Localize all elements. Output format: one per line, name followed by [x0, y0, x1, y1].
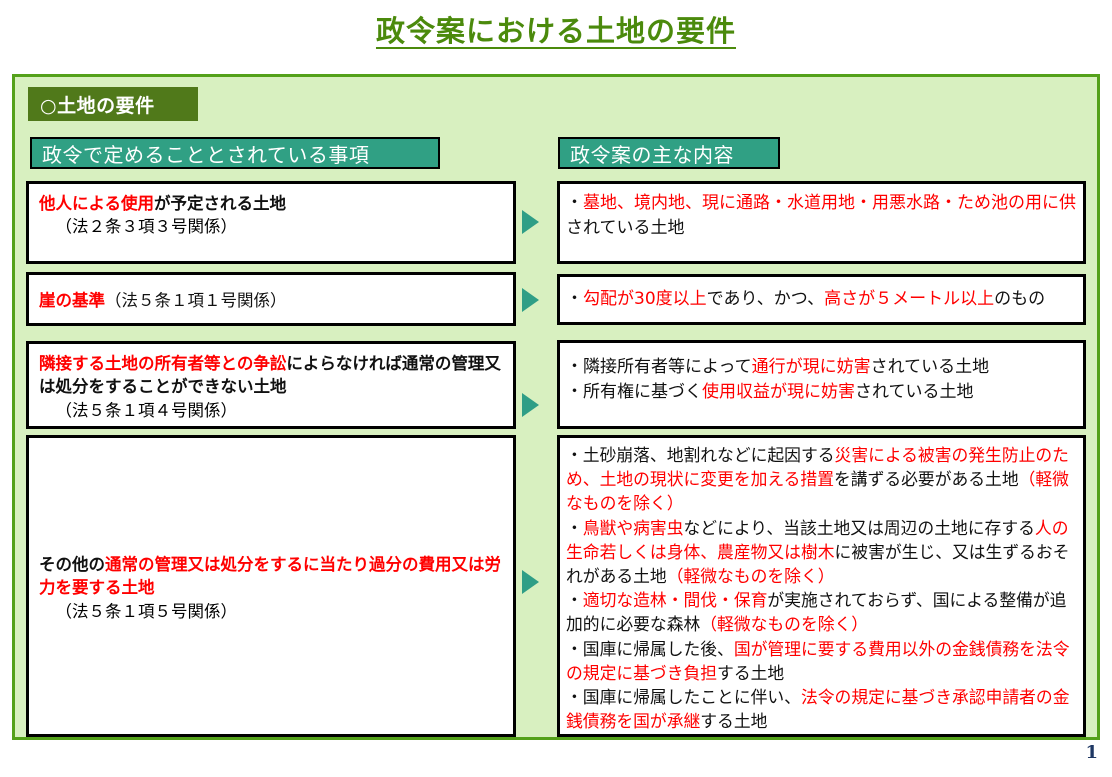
content-3a-black-a: 隣接所有者等によって — [583, 357, 752, 377]
content-box-1: ・墓地、境内地、現に通路・水道用地・用悪水路・ため池の用に供されている土地 — [557, 181, 1086, 264]
requirement-text-1: 他人による使用が予定される土地 （法２条３項３号関係） — [29, 184, 513, 243]
content-text-4: ・土砂崩落、地割れなどに起因する災害による被害の発生防止のため、土地の現状に変更… — [560, 438, 1083, 737]
content-4-segment-3-3: （軽微なものを除く） — [700, 614, 868, 634]
bullet-marker: ・ — [566, 382, 583, 402]
content-2-black-a: であり、かつ、 — [707, 289, 824, 309]
bullet-marker: ・ — [566, 193, 583, 213]
page-title: 政令案における土地の要件 — [0, 8, 1112, 50]
requirement-4-red: 通常の管理又は処分をするに当たり過分の費用又は労力を要する土地 — [39, 555, 501, 597]
content-3b-black-b: されている土地 — [855, 382, 974, 402]
requirement-1-red: 他人による使用 — [39, 194, 154, 213]
requirement-2-red: 崖の基準 — [39, 291, 105, 310]
requirement-text-4: その他の通常の管理又は処分をするに当たり過分の費用又は労力を要する土地 （法５条… — [29, 545, 513, 627]
content-box-2: ・勾配が30度以上であり、かつ、高さが５メートル以上のもの — [557, 274, 1086, 325]
content-3b-black-a: 所有権に基づく — [583, 382, 702, 402]
requirement-1-reference: （法２条３項３号関係） — [39, 215, 503, 238]
content-4-segment-1-3: を講ずる必要がある土地 — [834, 469, 1019, 489]
content-box-4: ・土砂崩落、地割れなどに起因する災害による被害の発生防止のため、土地の現状に変更… — [557, 435, 1086, 737]
content-4-segment-2-5: （軽微なものを除く） — [667, 566, 835, 586]
bullet-marker: ・ — [566, 445, 583, 465]
content-4-segment-4-3: する土地 — [717, 663, 784, 683]
requirement-3-reference: （法５条１項４号関係） — [39, 399, 503, 422]
arrow-right-icon-4 — [522, 570, 539, 594]
bullet-marker: ・ — [566, 518, 583, 538]
content-3b-red: 使用収益が現に妨害 — [702, 382, 855, 402]
list-item: ・国庫に帰属したことに伴い、法令の規定に基づき承認申請者の金銭債務を国が承継する… — [566, 685, 1077, 733]
requirement-3-red: 隣接する土地の所有者等との争訟 — [39, 354, 286, 373]
section-badge: ○土地の要件 — [28, 87, 198, 121]
requirement-box-1: 他人による使用が予定される土地 （法２条３項３号関係） — [26, 181, 516, 264]
content-4-segment-1-1: 土砂崩落、地割れなどに起因する — [583, 445, 835, 465]
content-4-segment-2-2: などにより、当該土地又は周辺の土地に存する — [684, 518, 1035, 538]
content-text-3: ・隣接所有者等によって通行が現に妨害されている土地 ・所有権に基づく使用収益が現… — [560, 343, 1083, 408]
list-item: ・鳥獣や病害虫などにより、当該土地又は周辺の土地に存する人の生命若しくは身体、農… — [566, 516, 1077, 589]
list-item: ・隣接所有者等によって通行が現に妨害されている土地 — [566, 355, 1077, 380]
list-item: ・所有権に基づく使用収益が現に妨害されている土地 — [566, 380, 1077, 405]
list-item: ・国庫に帰属した後、国が管理に要する費用以外の金銭債務を法令の規定に基づき負担す… — [566, 637, 1077, 685]
list-item: ・土砂崩落、地割れなどに起因する災害による被害の発生防止のため、土地の現状に変更… — [566, 443, 1077, 516]
requirement-4-black-prefix: その他の — [39, 555, 105, 574]
content-2-red-a: 勾配が30度以上 — [583, 289, 707, 309]
requirement-box-2: 崖の基準（法５条１項１号関係） — [26, 272, 516, 326]
content-text-2: ・勾配が30度以上であり、かつ、高さが５メートル以上のもの — [560, 277, 1083, 316]
bullet-marker: ・ — [566, 590, 583, 610]
column-header-right: 政令案の主な内容 — [558, 137, 780, 169]
bullet-marker: ・ — [566, 639, 583, 659]
bullet-marker: ・ — [566, 357, 583, 377]
bullet-marker: ・ — [566, 687, 583, 707]
list-item: ・適切な造林・間伐・保育が実施されておらず、国による整備が追加的に必要な森林（軽… — [566, 588, 1077, 636]
requirement-4-reference: （法５条１項５号関係） — [39, 600, 503, 623]
content-2-black-b: のもの — [994, 289, 1045, 309]
column-header-left: 政令で定めることとされている事項 — [30, 137, 440, 169]
requirement-box-3: 隣接する土地の所有者等との争訟によらなければ通常の管理又は処分をすることができな… — [26, 341, 516, 429]
bullet-marker: ・ — [566, 289, 583, 309]
content-box-3: ・隣接所有者等によって通行が現に妨害されている土地 ・所有権に基づく使用収益が現… — [557, 340, 1086, 429]
content-4-segment-5-3: する土地 — [700, 711, 767, 731]
content-2-red-b: 高さが５メートル以上 — [824, 289, 994, 309]
arrow-right-icon-1 — [522, 210, 539, 234]
content-4-segment-3-1: 適切な造林・間伐・保育 — [583, 590, 768, 610]
requirement-2-reference: （法５条１項１号関係） — [105, 291, 287, 310]
content-4-segment-4-1: 国庫に帰属した後、 — [583, 639, 734, 659]
content-1-red-b: 供 — [1059, 193, 1076, 213]
requirement-1-black: が予定される土地 — [154, 194, 286, 213]
content-1-red-a: 墓地、境内地、現に通路・水道用地・用悪水路・ため池の用に — [583, 193, 1059, 213]
requirement-text-2: 崖の基準（法５条１項１号関係） — [29, 281, 297, 316]
arrow-right-icon-2 — [522, 288, 539, 312]
content-3a-black-b: されている土地 — [871, 357, 990, 377]
page-number: 1 — [1085, 742, 1098, 763]
content-4-segment-2-1: 鳥獣や病害虫 — [583, 518, 684, 538]
content-text-1: ・墓地、境内地、現に通路・水道用地・用悪水路・ため池の用に供されている土地 — [560, 184, 1083, 244]
requirement-box-4: その他の通常の管理又は処分をするに当たり過分の費用又は労力を要する土地 （法５条… — [26, 435, 516, 737]
content-1-black: されている土地 — [566, 218, 685, 238]
content-3a-red: 通行が現に妨害 — [752, 357, 871, 377]
requirement-text-3: 隣接する土地の所有者等との争訟によらなければ通常の管理又は処分をすることができな… — [29, 344, 513, 426]
content-4-segment-5-1: 国庫に帰属したことに伴い、 — [583, 687, 801, 707]
arrow-right-icon-3 — [522, 393, 539, 417]
